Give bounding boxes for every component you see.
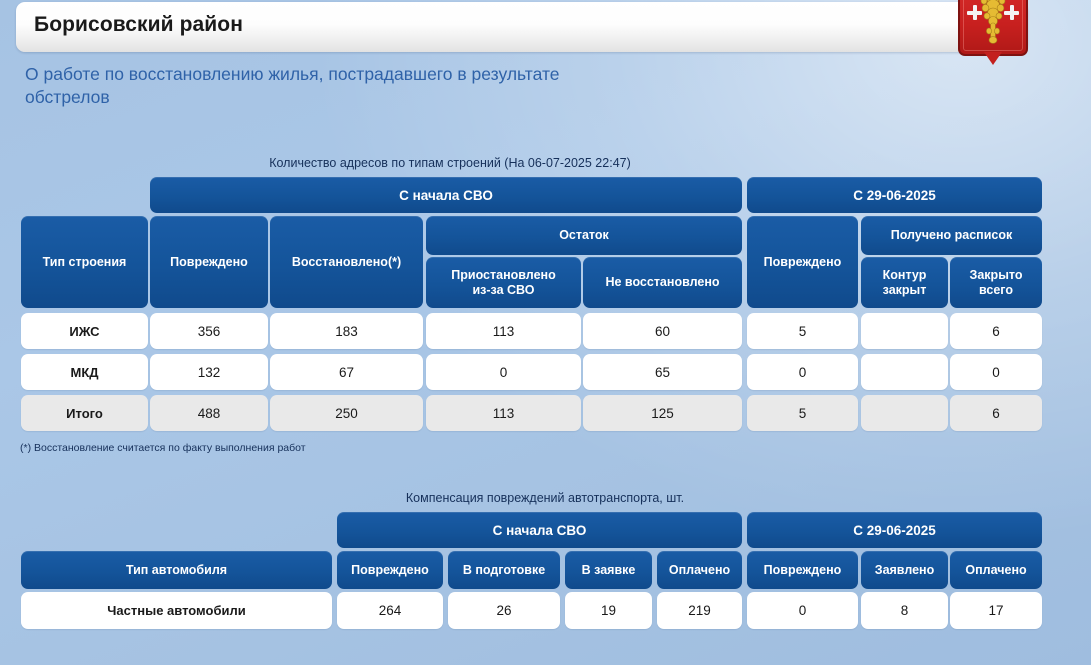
coat-of-arms-icon bbox=[958, 0, 1028, 74]
table1-cell: 6 bbox=[950, 313, 1042, 349]
table1-row-label: МКД bbox=[21, 354, 148, 390]
table1-cell-total: 250 bbox=[270, 395, 423, 431]
table2-cell: 264 bbox=[337, 592, 443, 629]
table1-col-closed-total-line2: всего bbox=[979, 283, 1013, 298]
table1-cell: 60 bbox=[583, 313, 742, 349]
table1-col-damaged: Повреждено bbox=[150, 216, 268, 308]
table1-cell: 0 bbox=[747, 354, 858, 390]
emblem-lion-figure bbox=[978, 0, 1008, 46]
table1-col-contour-closed-line1: Контур bbox=[883, 268, 927, 283]
table2-cell: 219 bbox=[657, 592, 742, 629]
table1-cell bbox=[861, 354, 948, 390]
table1-cell: 0 bbox=[426, 354, 581, 390]
table1-cell: 67 bbox=[270, 354, 423, 390]
table2-col-paid-recent: Оплачено bbox=[950, 551, 1042, 589]
table1-cell bbox=[861, 313, 948, 349]
table1-group-since-svo: С начала СВО bbox=[150, 177, 742, 213]
table1-row-label-total: Итого bbox=[21, 395, 148, 431]
table2-group-since-date: С 29-06-2025 bbox=[747, 512, 1042, 548]
table2-cell: 0 bbox=[747, 592, 858, 629]
table1-col-building-type: Тип строения bbox=[21, 216, 148, 308]
table1-cell-total: 5 bbox=[747, 395, 858, 431]
table2-cell: 26 bbox=[448, 592, 560, 629]
table2-col-car-type: Тип автомобиля bbox=[21, 551, 332, 589]
table1-col-paused-svo-line2: из-за СВО bbox=[473, 283, 535, 298]
table1-cell: 113 bbox=[426, 313, 581, 349]
table1-col-contour-closed: Контур закрыт bbox=[861, 257, 948, 308]
table1-cell: 183 bbox=[270, 313, 423, 349]
table1-group-receipts: Получено расписок bbox=[861, 216, 1042, 255]
slide-subtitle: О работе по восстановлению жилья, постра… bbox=[25, 63, 625, 109]
table1-col-damaged-recent: Повреждено bbox=[747, 216, 858, 308]
table2-cell: 17 bbox=[950, 592, 1042, 629]
table1-cell-total: 113 bbox=[426, 395, 581, 431]
table2-caption: Компенсация повреждений автотранспорта, … bbox=[340, 491, 750, 505]
table1-group-since-date: С 29-06-2025 bbox=[747, 177, 1042, 213]
emblem-shield bbox=[958, 0, 1028, 56]
table1-cell: 5 bbox=[747, 313, 858, 349]
table1-col-contour-closed-line2: закрыт bbox=[883, 283, 927, 298]
table2-cell: 19 bbox=[565, 592, 652, 629]
table1-cell-total: 125 bbox=[583, 395, 742, 431]
table2-row-label: Частные автомобили bbox=[21, 592, 332, 629]
table1-cell-total bbox=[861, 395, 948, 431]
table1-col-closed-total-line1: Закрыто bbox=[970, 268, 1023, 283]
table1-cell: 65 bbox=[583, 354, 742, 390]
table2-col-damaged: Повреждено bbox=[337, 551, 443, 589]
table1-col-restored: Восстановлено(*) bbox=[270, 216, 423, 308]
table1-group-ostatok: Остаток bbox=[426, 216, 742, 255]
table1-cell: 356 bbox=[150, 313, 268, 349]
table1-cell: 0 bbox=[950, 354, 1042, 390]
table2-col-declared: Заявлено bbox=[861, 551, 948, 589]
table1-col-paused-svo-line1: Приостановлено bbox=[451, 268, 555, 283]
table2-col-in-preparation: В подготовке bbox=[448, 551, 560, 589]
table1-cell-total: 488 bbox=[150, 395, 268, 431]
table2-col-in-application: В заявке bbox=[565, 551, 652, 589]
table1-footnote: (*) Восстановление считается по факту вы… bbox=[20, 442, 306, 454]
table1-cell: 132 bbox=[150, 354, 268, 390]
table1-row-label: ИЖС bbox=[21, 313, 148, 349]
table2-group-since-svo: С начала СВО bbox=[337, 512, 742, 548]
table1-cell-total: 6 bbox=[950, 395, 1042, 431]
table1-col-not-restored: Не восстановлено bbox=[583, 257, 742, 308]
table1-col-paused-svo: Приостановлено из-за СВО bbox=[426, 257, 581, 308]
table1-col-closed-total: Закрыто всего bbox=[950, 257, 1042, 308]
table1-caption: Количество адресов по типам строений (На… bbox=[150, 156, 750, 170]
table2-col-damaged-recent: Повреждено bbox=[747, 551, 858, 589]
table2-cell: 8 bbox=[861, 592, 948, 629]
slide-root: Борисовский район bbox=[0, 0, 1091, 665]
table2-col-paid: Оплачено bbox=[657, 551, 742, 589]
title-bar: Борисовский район bbox=[16, 2, 1028, 52]
page-title: Борисовский район bbox=[34, 13, 243, 37]
